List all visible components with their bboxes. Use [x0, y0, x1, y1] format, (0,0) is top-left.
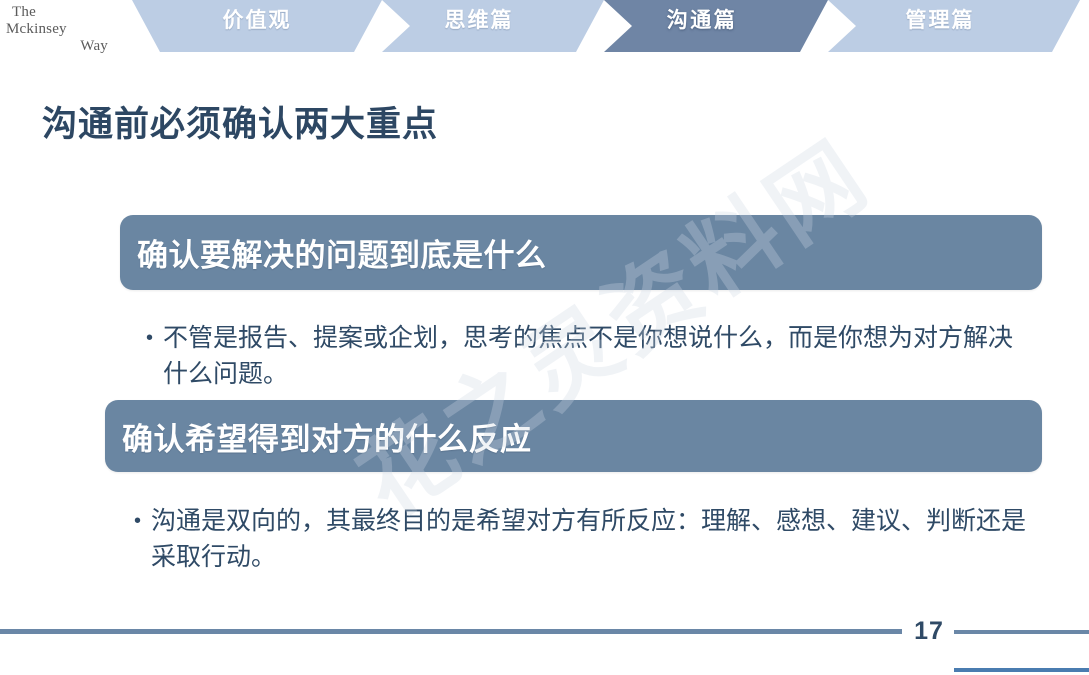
tab-价值观[interactable]: 价值观	[132, 0, 382, 52]
footer-rule-right	[954, 630, 1089, 634]
tab-label: 管理篇	[906, 4, 975, 34]
bullet-marker-icon: •	[134, 503, 151, 575]
footer-rule-bottom-accent	[954, 668, 1089, 672]
tab-label: 价值观	[223, 4, 292, 34]
bullet-text: 不管是报告、提案或企划，思考的焦点不是你想说什么，而是你想为对方解决什么问题。	[163, 320, 1026, 392]
page-number: 17	[908, 617, 950, 646]
tab-label: 沟通篇	[667, 4, 738, 34]
chapter-tab-strip: 价值观 思维篇 沟通篇 管理篇	[132, 0, 1089, 54]
section-heading-banner-2: 确认希望得到对方的什么反应	[105, 400, 1042, 472]
slide-content: 确认要解决的问题到底是什么 • 不管是报告、提案或企划，思考的焦点不是你想说什么…	[0, 0, 1089, 675]
section-bullet-1: • 不管是报告、提案或企划，思考的焦点不是你想说什么，而是你想为对方解决什么问题…	[146, 320, 1026, 392]
tab-label: 思维篇	[445, 4, 514, 34]
slide-header: The Mckinsey Way 价值观 思维篇 沟通篇	[0, 0, 1089, 58]
tab-管理篇[interactable]: 管理篇	[800, 0, 1080, 52]
slide-canvas: The Mckinsey Way 价值观 思维篇 沟通篇	[0, 0, 1089, 675]
section-heading-text: 确认要解决的问题到底是什么	[120, 230, 547, 275]
section-heading-text: 确认希望得到对方的什么反应	[105, 414, 532, 459]
section-heading-banner-1: 确认要解决的问题到底是什么	[120, 215, 1042, 290]
tab-思维篇[interactable]: 思维篇	[354, 0, 604, 52]
tab-沟通篇[interactable]: 沟通篇	[576, 0, 828, 52]
footer-rule-left	[0, 629, 902, 634]
bullet-text: 沟通是双向的，其最终目的是希望对方有所反应：理解、感想、建议、判断还是采取行动。	[151, 503, 1034, 575]
bullet-marker-icon: •	[146, 320, 163, 392]
section-bullet-2: • 沟通是双向的，其最终目的是希望对方有所反应：理解、感想、建议、判断还是采取行…	[134, 503, 1034, 575]
